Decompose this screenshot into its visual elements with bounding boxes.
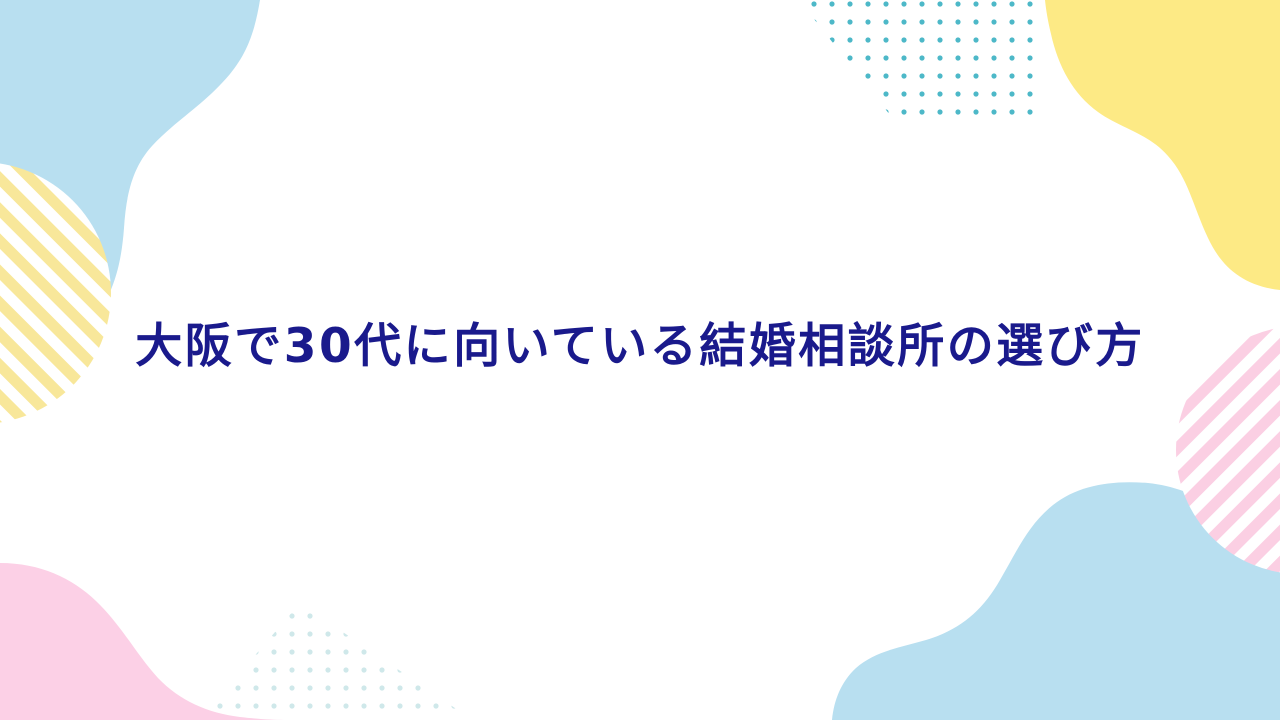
- title-container: 大阪で30代に向いている結婚相談所の選び方: [0, 0, 1280, 720]
- title-card: 大阪で30代に向いている結婚相談所の選び方: [0, 0, 1280, 720]
- page-title: 大阪で30代に向いている結婚相談所の選び方: [135, 318, 1145, 377]
